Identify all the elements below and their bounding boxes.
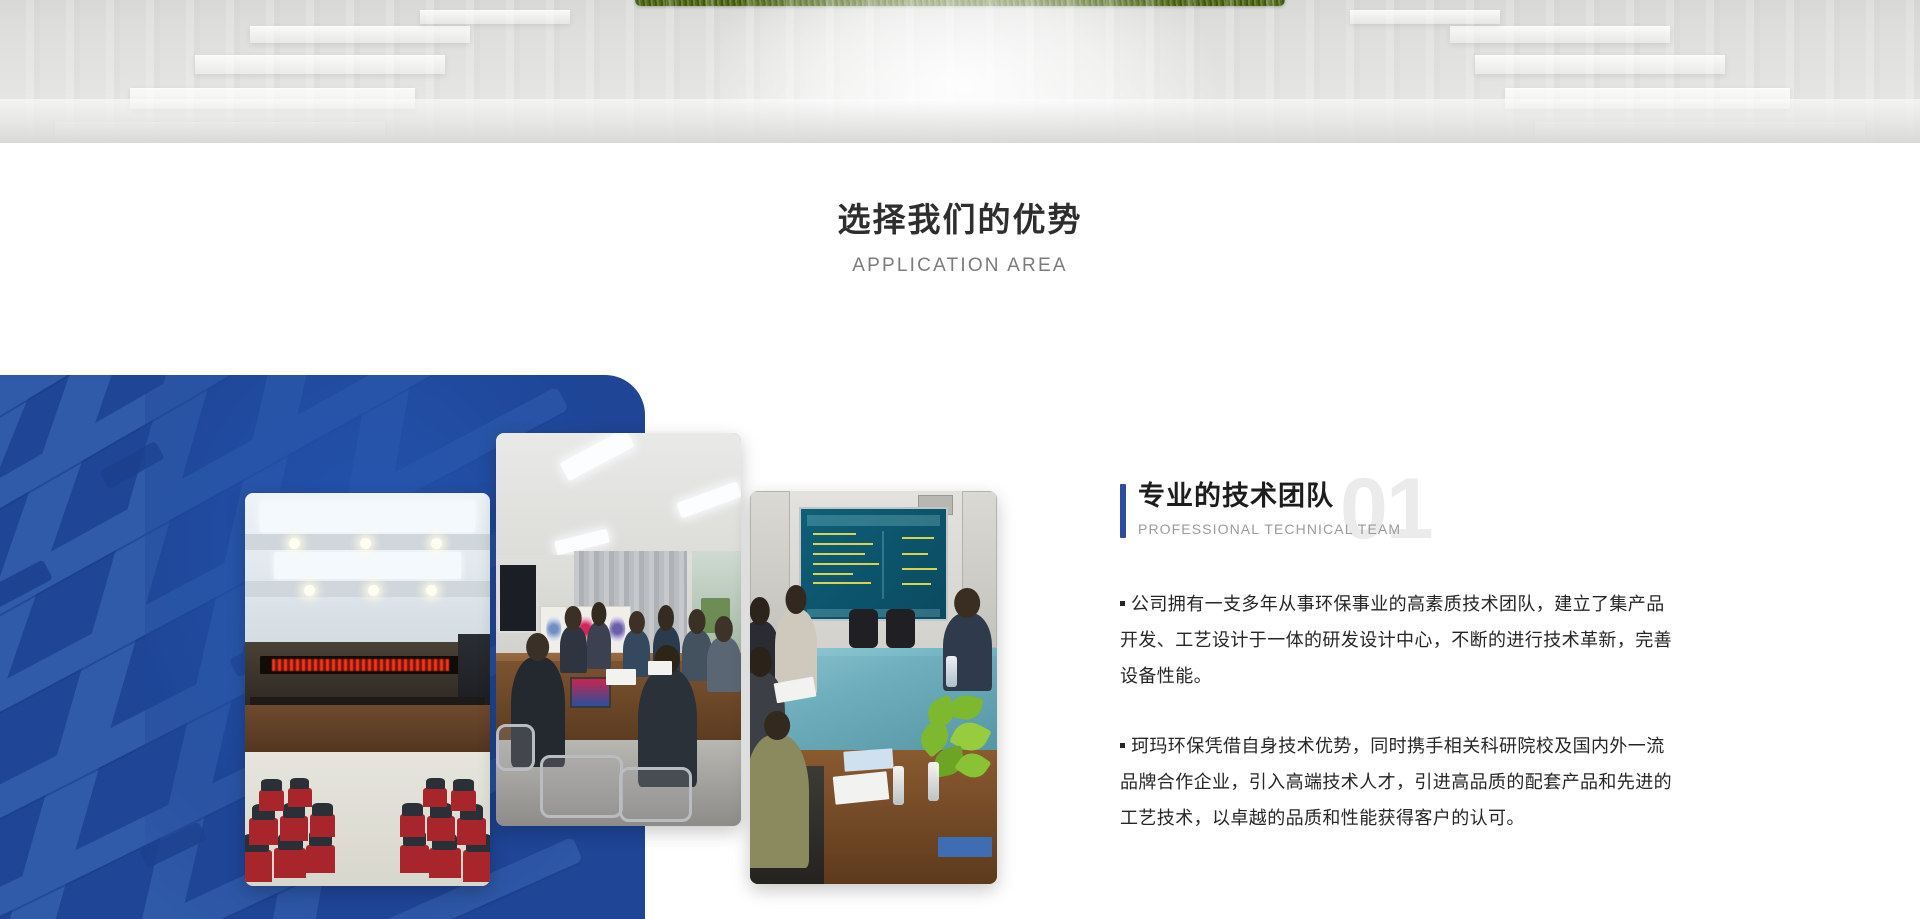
bullet-square-icon	[1120, 743, 1125, 748]
feature-paragraph-1-text: 公司拥有一支多年从事环保事业的高素质技术团队，建立了集产品开发、工艺设计于一体的…	[1120, 594, 1672, 686]
feature-content: 01 专业的技术团队 PROFESSIONAL TECHNICAL TEAM 公…	[1120, 480, 1680, 836]
page-root: 选择我们的优势 APPLICATION AREA	[0, 0, 1920, 919]
photo-conference-room	[496, 433, 741, 826]
feature-heading-row: 01 专业的技术团队 PROFESSIONAL TECHNICAL TEAM	[1120, 480, 1680, 556]
projection-screen	[799, 507, 947, 621]
bullet-square-icon	[1120, 601, 1125, 606]
feature-paragraph-2-text: 珂玛环保凭借自身技术优势，同时携手相关科研院校及国内外一流品牌合作企业，引入高端…	[1120, 736, 1672, 828]
accent-bar	[1120, 484, 1126, 538]
hero-banner-image	[0, 0, 1920, 143]
section-heading: 选择我们的优势 APPLICATION AREA	[0, 200, 1920, 277]
photo-auditorium	[245, 493, 490, 886]
feature-paragraph-1: 公司拥有一支多年从事环保事业的高素质技术团队，建立了集产品开发、工艺设计于一体的…	[1120, 586, 1680, 694]
led-banner	[260, 656, 461, 674]
feature-title: 专业的技术团队	[1138, 480, 1680, 514]
section-subtitle: APPLICATION AREA	[0, 255, 1920, 277]
feature-subtitle: PROFESSIONAL TECHNICAL TEAM	[1138, 521, 1680, 537]
feature-paragraph-2: 珂玛环保凭借自身技术优势，同时携手相关科研院校及国内外一流品牌合作企业，引入高端…	[1120, 728, 1680, 836]
banner-foreground-floor	[0, 99, 1920, 143]
section-title: 选择我们的优势	[0, 200, 1920, 240]
photo-projector-meeting	[750, 491, 997, 884]
